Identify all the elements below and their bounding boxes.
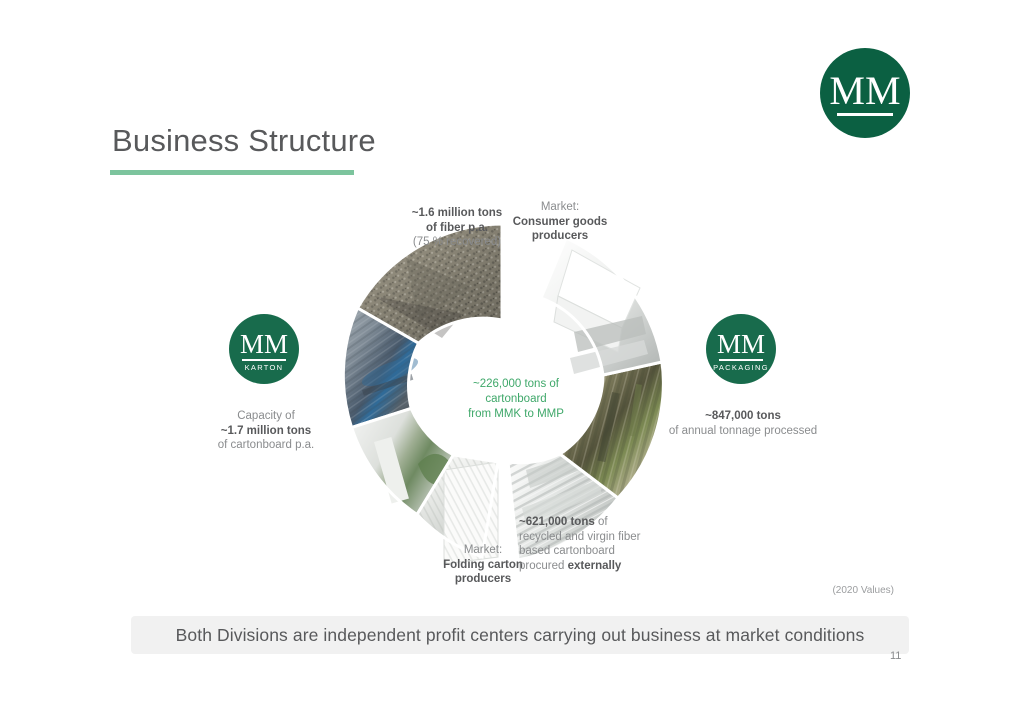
annotation-karton-line1: Capacity of — [237, 410, 295, 422]
annotation-external-procurement: ~621,000 tons of recycled and virgin fib… — [519, 515, 659, 573]
annotation-flow-line1: ~226,000 tons of — [473, 378, 559, 390]
title-underline-rule — [110, 170, 354, 175]
mm-packaging-sublabel: PACKAGING — [713, 363, 769, 372]
annotation-external-line3: based cartonboard — [519, 545, 615, 557]
annotation-consumer-label: Market: — [541, 201, 579, 213]
mm-packaging-logo: MM PACKAGING — [706, 314, 776, 384]
annotation-fiber-input: ~1.6 million tons of fiber p.a. (75 % re… — [398, 206, 516, 250]
slide-canvas: MM Business Structure — [0, 0, 1024, 724]
annotation-fiber-line2: of fiber p.a. — [426, 222, 488, 234]
annotation-packaging-line2: of annual tonnage processed — [669, 425, 817, 437]
mm-logo-letters: MM — [829, 72, 900, 110]
annotation-consumer-line1: Consumer goods — [513, 216, 608, 228]
annotation-karton-capacity: Capacity of ~1.7 million tons of cartonb… — [200, 409, 332, 453]
mm-karton-sublabel: KARTON — [245, 363, 284, 372]
annotation-folding-label: Market: — [464, 544, 502, 556]
annotation-external-line4-pre: procured — [519, 560, 568, 572]
annotation-external-line4-bold: externally — [568, 560, 622, 572]
summary-banner-text: Both Divisions are independent profit ce… — [176, 625, 865, 646]
ring-segment-finished-packaging — [541, 238, 662, 375]
mm-karton-underline — [242, 359, 286, 361]
annotation-fiber-line1: ~1.6 million tons — [412, 207, 502, 219]
page-number: 11 — [890, 650, 920, 662]
summary-banner: Both Divisions are independent profit ce… — [131, 616, 909, 654]
annotation-external-line2: recycled and virgin fiber — [519, 531, 640, 543]
annotation-flow-line2: cartonboard — [485, 393, 546, 405]
annotation-karton-line2: ~1.7 million tons — [221, 425, 311, 437]
annotation-consumer-market: Market: Consumer goods producers — [500, 200, 620, 244]
values-year-note: (2020 Values) — [760, 585, 894, 596]
annotation-folding-line2: producers — [455, 573, 511, 585]
annotation-folding-line1: Folding carton — [443, 559, 523, 571]
mm-packaging-letters: MM — [717, 331, 765, 357]
annotation-fiber-line3: (75 % recovered) — [413, 236, 501, 248]
mm-packaging-underline — [719, 359, 763, 361]
mm-karton-letters: MM — [240, 331, 288, 357]
annotation-consumer-line2: producers — [532, 230, 588, 242]
page-title: Business Structure — [112, 123, 376, 159]
annotation-karton-line3: of cartonboard p.a. — [218, 439, 315, 451]
annotation-packaging-tonnage: ~847,000 tons of annual tonnage processe… — [660, 409, 826, 438]
mm-corporate-logo: MM — [820, 48, 910, 138]
annotation-packaging-line1: ~847,000 tons — [705, 410, 781, 422]
mm-logo-underline — [837, 113, 893, 116]
mm-karton-logo: MM KARTON — [229, 314, 299, 384]
annotation-flow-line3: from MMK to MMP — [468, 408, 564, 420]
annotation-internal-flow: ~226,000 tons of cartonboard from MMK to… — [452, 377, 580, 422]
annotation-external-rest1: of — [595, 516, 608, 528]
annotation-external-bold1: ~621,000 tons — [519, 516, 595, 528]
